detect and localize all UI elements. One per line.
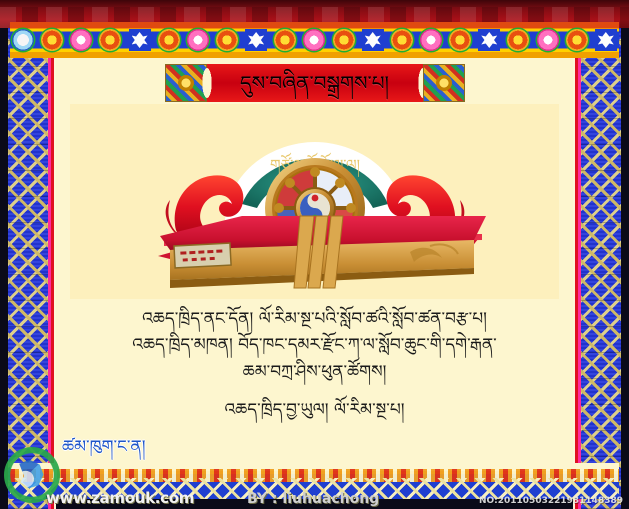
top-frieze [10,22,619,58]
emblem-panel: གཙོ་ལ་ལོ་ལོ་ལ་ལ། [70,104,559,299]
medallion-orange-19 [566,29,588,51]
medallion-orange-17 [507,29,529,51]
dharma-emblem-illustration: གཙོ་ལ་ལོ་ལོ་ལ་ལ། [130,112,500,292]
medallion-square-white-8 [245,29,267,51]
medallion-orange-3 [99,29,121,51]
left-ornate-border [8,0,48,509]
medallion-orange-15 [449,29,471,51]
medallion-orange-9 [274,29,296,51]
slide-canvas: དུས་བཞིན་བསྒྲགས་པ། [0,0,629,509]
medallion-pink-14 [420,29,442,51]
medallion-square-white-12 [362,29,384,51]
pecha-scripture-icon [158,216,486,288]
body-line-4: འཆད་ཁྲིད་བྱ་ཡུལ། ལོ་རིམ་སྔ་པ། [56,397,573,423]
paragraph-spacer [56,385,573,397]
right-ornate-border [581,0,621,509]
right-rail-red [575,0,578,509]
body-line-1: འཆད་ཁྲིད་ནང་དོན། ལོ་རིམ་སྔ་པའི་སློབ་ཚའི་… [56,306,573,332]
medallion-white-blue-0 [12,29,34,51]
right-rail-pink [578,0,581,509]
watermark-site-name-tibetan: ཚམ་ཁུག་ང་ན། [62,427,146,475]
medallion-orange-5 [158,29,180,51]
medallion-square-white-20 [595,29,617,51]
knotwork-pattern-icon [8,0,48,509]
body-text-block: འཆད་ཁྲིད་ནང་དོན། ལོ་རིམ་སྔ་པའི་སློབ་ཚའི་… [56,306,573,423]
ribbon-cap-right-icon [423,64,465,102]
watermark-url[interactable]: www.zamouk.com [46,489,194,507]
medallion-pink-2 [70,29,92,51]
medallion-pink-18 [537,29,559,51]
watermark-serial-number: NO:20110503221931148389 [479,496,623,506]
title-banner: དུས་བཞིན་བསྒྲགས་པ། [165,64,465,102]
body-line-2: འཆད་ཁྲིད་མཁན། བོད་ཁང་དམར་རྫོང་ཀ་ལ་སློབ་ཆ… [56,332,573,358]
medallion-pink-10 [303,29,325,51]
ribbon-body: དུས་བཞིན་བསྒྲགས་པ། [207,64,423,102]
knotwork-pattern-icon [581,0,621,509]
medallion-orange-1 [41,29,63,51]
beam-shadow [0,0,629,7]
watermark-author: BY : liuhuachong [247,491,379,507]
body-line-3: ཆམ་བཀྲ་ཤིས་ཕུན་ཚོགས། [56,359,573,385]
medallion-pink-6 [187,29,209,51]
page-title: དུས་བཞིན་བསྒྲགས་པ། [240,73,389,93]
medallion-square-white-4 [129,29,151,51]
medallion-orange-7 [216,29,238,51]
medallion-orange-13 [391,29,413,51]
right-rail-white [573,0,575,509]
medallion-square-white-16 [478,29,500,51]
medallion-orange-11 [333,29,355,51]
